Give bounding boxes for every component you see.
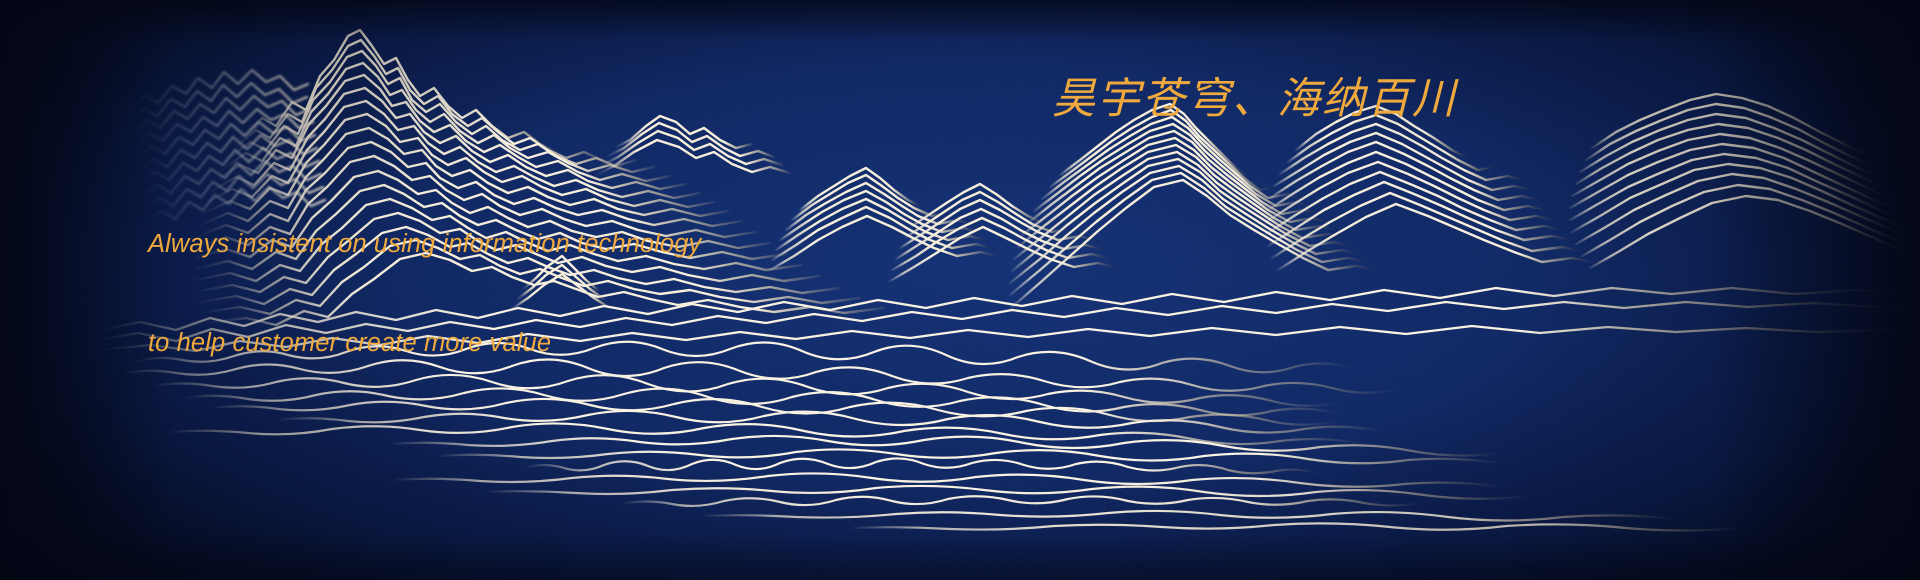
headline-chinese: 昊宇苍穹、海纳百川 xyxy=(1052,64,1457,126)
hero-banner: 昊宇苍穹、海纳百川 Always insistent on using info… xyxy=(0,0,1920,580)
tagline-english: Always insistent on using information te… xyxy=(148,162,701,426)
tagline-line-2: to help customer create more value xyxy=(148,327,701,360)
tagline-line-1: Always insistent on using information te… xyxy=(148,228,701,261)
